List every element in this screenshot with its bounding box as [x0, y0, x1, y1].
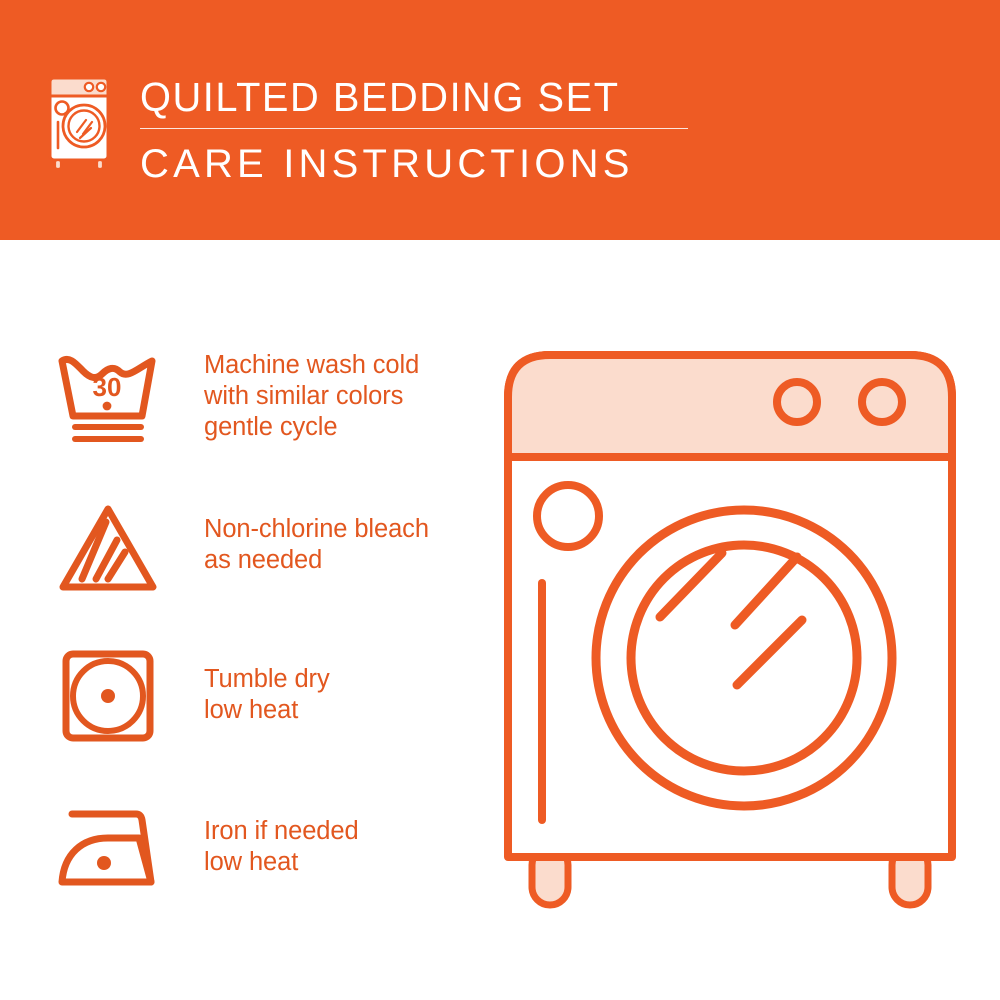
iron-icon [48, 788, 168, 908]
page-subtitle: CARE INSTRUCTIONS [140, 140, 700, 188]
care-item-label: Machine wash cold with similar colors ge… [204, 340, 419, 443]
care-item-machine-wash: 30 Machine wash cold with similar colors… [0, 340, 500, 460]
care-item-iron: Iron if needed low heat [0, 788, 500, 908]
care-item-label: Iron if needed low heat [204, 788, 359, 878]
care-instruction-list: 30 Machine wash cold with similar colors… [0, 240, 500, 1000]
header-banner: QUILTED BEDDING SET CARE INSTRUCTIONS [0, 0, 1000, 240]
header-title-group: QUILTED BEDDING SET CARE INSTRUCTIONS [140, 72, 700, 188]
bleach-triangle-icon [48, 488, 168, 608]
washing-machine-illustration [490, 335, 970, 935]
svg-text:30: 30 [93, 372, 122, 402]
care-item-label: Tumble dry low heat [204, 636, 330, 726]
wash-tub-icon: 30 [48, 340, 168, 460]
title-divider [140, 128, 688, 129]
tumble-dry-icon [48, 636, 168, 756]
care-instructions-page: QUILTED BEDDING SET CARE INSTRUCTIONS 30 [0, 0, 1000, 1000]
care-item-label: Non-chlorine bleach as needed [204, 488, 429, 576]
washing-machine-icon [44, 72, 118, 176]
page-title: QUILTED BEDDING SET [140, 72, 683, 122]
care-item-tumble-dry: Tumble dry low heat [0, 636, 500, 756]
care-item-bleach: Non-chlorine bleach as needed [0, 488, 500, 608]
